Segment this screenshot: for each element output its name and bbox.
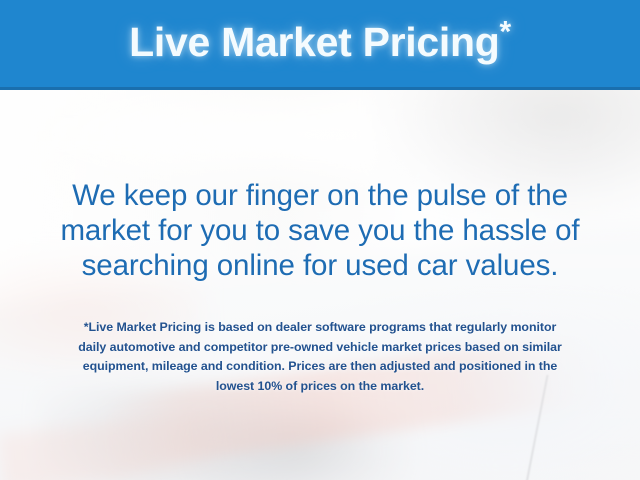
headline-line: market for you to save you the hassle of — [0, 213, 640, 248]
headline-line: We keep our finger on the pulse of the — [0, 178, 640, 213]
page-title-text: Live Market Pricing — [129, 19, 499, 65]
disclaimer-line: equipment, mileage and condition. Prices… — [24, 357, 616, 377]
page-title-asterisk: * — [499, 15, 510, 48]
disclaimer-line: daily automotive and competitor pre-owne… — [24, 338, 616, 358]
header-band: Live Market Pricing* — [0, 0, 640, 90]
page-title: Live Market Pricing* — [129, 22, 511, 66]
disclaimer-line: lowest 10% of prices on the market. — [24, 377, 616, 397]
disclaimer-text: *Live Market Pricing is based on dealer … — [24, 318, 616, 396]
content-area: We keep our finger on the pulse of the m… — [0, 90, 640, 480]
disclaimer-line: *Live Market Pricing is based on dealer … — [24, 318, 616, 338]
headline-line: searching online for used car values. — [0, 248, 640, 283]
live-market-pricing-banner: Live Market Pricing* We keep our finger … — [0, 0, 640, 480]
headline-text: We keep our finger on the pulse of the m… — [0, 178, 640, 283]
